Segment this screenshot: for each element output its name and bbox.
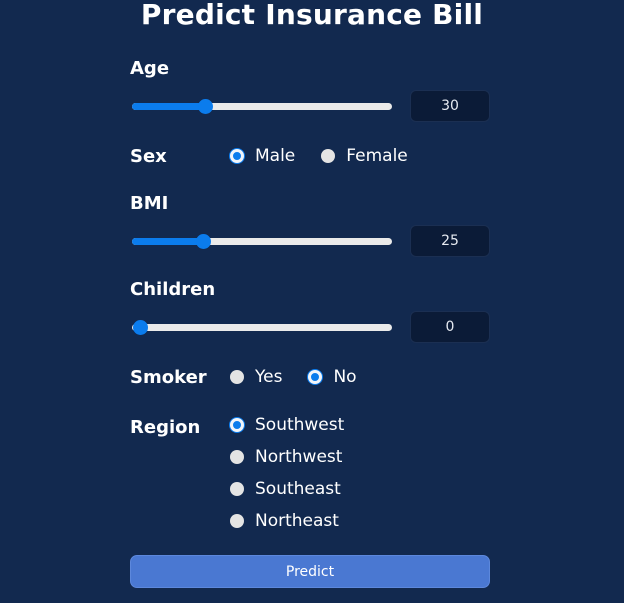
age-value-box[interactable]: 30: [410, 90, 490, 122]
bmi-value-box[interactable]: 25: [410, 225, 490, 257]
region-option-northwest-label: Northwest: [255, 447, 342, 467]
smoker-option-yes[interactable]: Yes: [230, 367, 282, 387]
smoker-option-yes-label: Yes: [255, 367, 282, 387]
bmi-slider-fill: [132, 238, 203, 245]
children-slider-track[interactable]: [132, 324, 392, 331]
radio-unselected-icon[interactable]: [230, 514, 244, 528]
region-option-southwest-label: Southwest: [255, 415, 344, 435]
age-slider-row: 30: [130, 90, 490, 124]
radio-unselected-icon[interactable]: [230, 482, 244, 496]
region-option-northeast-label: Northeast: [255, 511, 339, 531]
region-radio-options: Southwest Northwest Southeast Northeast: [230, 415, 370, 543]
age-slider-thumb[interactable]: [198, 99, 213, 114]
radio-unselected-icon[interactable]: [321, 149, 335, 163]
sex-option-male[interactable]: Male: [230, 146, 295, 166]
field-group-children: Children 0: [130, 279, 490, 300]
bmi-label: BMI: [130, 193, 490, 214]
radio-unselected-icon[interactable]: [230, 450, 244, 464]
sex-option-female[interactable]: Female: [321, 146, 407, 166]
age-slider[interactable]: [132, 98, 392, 114]
children-slider-row: 0: [130, 311, 490, 345]
age-label: Age: [130, 58, 490, 79]
radio-unselected-icon[interactable]: [230, 370, 244, 384]
smoker-radio-options: Yes No: [230, 367, 383, 387]
bmi-slider[interactable]: [132, 233, 392, 249]
smoker-option-no[interactable]: No: [308, 367, 356, 387]
region-option-southwest[interactable]: Southwest: [230, 415, 344, 435]
field-group-age: Age 30: [130, 58, 490, 79]
predict-button[interactable]: Predict: [130, 555, 490, 588]
radio-selected-icon[interactable]: [230, 418, 244, 432]
children-value-box[interactable]: 0: [410, 311, 490, 343]
age-slider-fill: [132, 103, 205, 110]
sex-option-male-label: Male: [255, 146, 295, 166]
children-slider-thumb[interactable]: [133, 320, 148, 335]
region-label: Region: [130, 417, 200, 438]
smoker-label: Smoker: [130, 367, 207, 388]
page-title: Predict Insurance Bill: [0, 0, 624, 31]
bmi-slider-row: 25: [130, 225, 490, 259]
bmi-slider-thumb[interactable]: [196, 234, 211, 249]
sex-radio-options: Male Female: [230, 146, 434, 166]
radio-selected-icon[interactable]: [230, 149, 244, 163]
smoker-option-no-label: No: [333, 367, 356, 387]
region-option-northeast[interactable]: Northeast: [230, 511, 344, 531]
children-label: Children: [130, 279, 490, 300]
region-option-southeast-label: Southeast: [255, 479, 341, 499]
sex-label: Sex: [130, 146, 167, 167]
sex-option-female-label: Female: [346, 146, 407, 166]
region-option-northwest[interactable]: Northwest: [230, 447, 344, 467]
region-option-southeast[interactable]: Southeast: [230, 479, 344, 499]
children-slider[interactable]: [132, 319, 392, 335]
field-group-bmi: BMI 25: [130, 193, 490, 214]
radio-selected-icon[interactable]: [308, 370, 322, 384]
